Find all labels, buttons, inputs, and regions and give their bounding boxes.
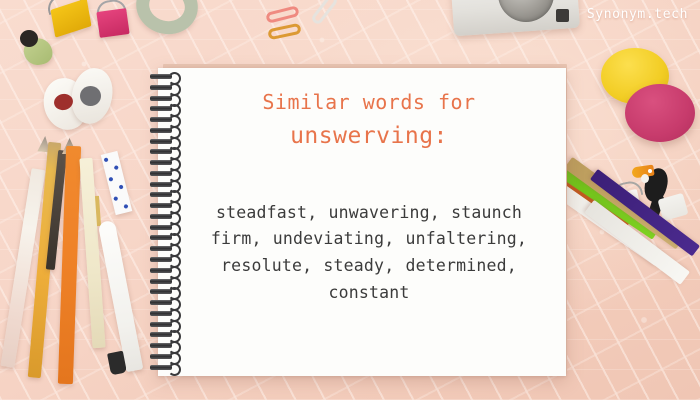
spiral-ring [150,235,182,240]
spiral-ring [150,332,182,337]
page-heading-prefix: Similar words for [188,88,550,117]
spiral-ring [150,300,182,305]
spiral-ring [150,289,182,294]
spiral-ring [150,192,182,197]
spiral-ring [150,128,182,133]
spiral-ring [150,171,182,176]
spiral-ring [150,160,182,165]
spiral-ring [150,85,182,90]
spiral-ring [150,214,182,219]
camera-shutter-button-icon [556,9,569,22]
desk-background: Similar words for unswerving: steadfast,… [0,0,700,400]
spiral-ring [150,203,182,208]
spiral-ring [150,246,182,251]
binder-clip-pink [96,8,129,38]
spiral-ring [150,257,182,262]
spiral-ring [150,96,182,101]
spiral-ring [150,365,182,370]
spiral-ring [150,311,182,316]
bird-figurine-head [20,30,38,47]
spiral-ring [150,74,182,79]
spiral-ring [150,225,182,230]
spiral-ring [150,182,182,187]
spiral-ring [150,322,182,327]
page-query-word: unswerving: [188,119,550,154]
notebook-spiral-binding [150,74,184,370]
spiral-ring [150,268,182,273]
synonym-card: Similar words for unswerving: steadfast,… [188,88,550,306]
synonym-list: steadfast, unwavering, staunch firm, und… [188,200,550,307]
spiral-ring [150,139,182,144]
toucan-sticker-eye [648,169,652,173]
spiral-ring [150,117,182,122]
spiral-ring [150,106,182,111]
spiral-ring [150,354,182,359]
spiral-ring [150,279,182,284]
spiral-ring [150,343,182,348]
brand-logo[interactable]: Synonym.tech [587,7,688,22]
toucan-sticker-chest [641,174,649,183]
spiral-ring [150,149,182,154]
eraser-gray-dot-center [80,86,101,106]
macaron-pink [625,84,695,142]
